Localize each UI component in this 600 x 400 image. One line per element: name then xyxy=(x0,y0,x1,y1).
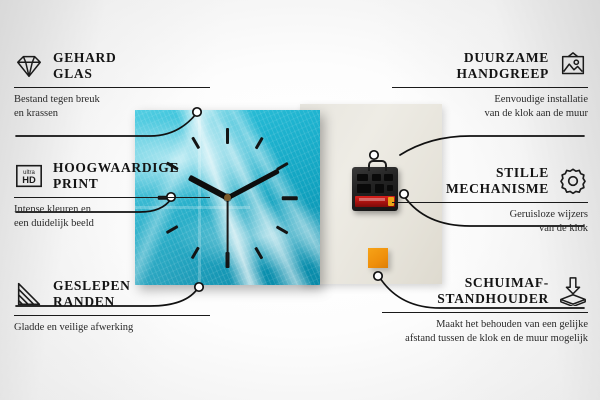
feature-description: Gladde en veilige afwerking xyxy=(14,321,210,335)
movement-slot xyxy=(357,184,371,193)
ultra-hd-icon: ultra HD xyxy=(14,161,44,191)
press-pad-icon xyxy=(558,276,588,306)
battery-label-stripe xyxy=(359,198,385,201)
feature-description: Maakt het behouden van een gelijke afsta… xyxy=(382,318,588,346)
feature-gehard-glas: GEHARD GLAS Bestand tegen breuk en krass… xyxy=(14,50,210,121)
feature-description: Intense kleuren en een duidelijk beeld xyxy=(14,203,210,231)
movement-slot xyxy=(357,174,368,181)
clock-second-hand xyxy=(227,198,229,260)
movement-slot xyxy=(375,184,384,193)
infographic-canvas: GEHARD GLAS Bestand tegen breuk en krass… xyxy=(0,0,600,400)
feature-header: DUURZAME HANDGREEP xyxy=(392,50,588,82)
feature-header: GESLEPEN RANDEN xyxy=(14,278,210,310)
clock-battery xyxy=(355,196,395,207)
feature-header: STILLE MECHANISME xyxy=(392,165,588,197)
movement-hanger-hook xyxy=(368,160,387,171)
feature-divider xyxy=(14,315,210,316)
feature-description: Eenvoudige installatie van de klok aan d… xyxy=(392,93,588,121)
feature-title: GEHARD GLAS xyxy=(53,50,116,82)
feature-title: DUURZAME HANDGREEP xyxy=(456,50,549,82)
feature-duurzame-handgreep: DUURZAME HANDGREEP Eenvoudige installati… xyxy=(392,50,588,121)
clock-tick xyxy=(282,196,298,200)
feature-header: SCHUIMAF- STANDHOUDER xyxy=(382,275,588,307)
feature-schuimafstandhouder: SCHUIMAF- STANDHOUDER Maakt het behouden… xyxy=(382,275,588,346)
clock-tick xyxy=(226,128,230,144)
feature-divider xyxy=(382,312,588,313)
feature-header: GEHARD GLAS xyxy=(14,50,210,82)
feature-title: HOOGWAARDIGE PRINT xyxy=(53,160,179,192)
picture-hanger-icon xyxy=(558,51,588,81)
gear-icon xyxy=(558,166,588,196)
feature-title: STILLE MECHANISME xyxy=(446,165,549,197)
foam-spacer-pad xyxy=(368,248,388,268)
feature-divider xyxy=(14,87,210,88)
feature-title: GESLEPEN RANDEN xyxy=(53,278,131,310)
feature-hoogwaardige-print: ultra HD HOOGWAARDIGE PRINT Intense kleu… xyxy=(14,160,210,231)
feature-description: Bestand tegen breuk en krassen xyxy=(14,93,210,121)
clock-hand-cap xyxy=(224,194,231,201)
feature-description: Geruisloze wijzers van de klok xyxy=(392,208,588,236)
feature-header: ultra HD HOOGWAARDIGE PRINT xyxy=(14,160,210,192)
svg-text:HD: HD xyxy=(22,175,36,185)
feature-stille-mechanisme: STILLE MECHANISME Geruisloze wijzers van… xyxy=(392,165,588,236)
feature-divider xyxy=(392,87,588,88)
feature-divider xyxy=(14,197,210,198)
diamond-icon xyxy=(14,51,44,81)
movement-slot xyxy=(372,174,381,181)
feature-title: SCHUIMAF- STANDHOUDER xyxy=(437,275,549,307)
feature-divider xyxy=(392,202,588,203)
feature-geslepen-randen: GESLEPEN RANDEN Gladde en veilige afwerk… xyxy=(14,278,210,335)
beveled-edge-icon xyxy=(14,279,44,309)
